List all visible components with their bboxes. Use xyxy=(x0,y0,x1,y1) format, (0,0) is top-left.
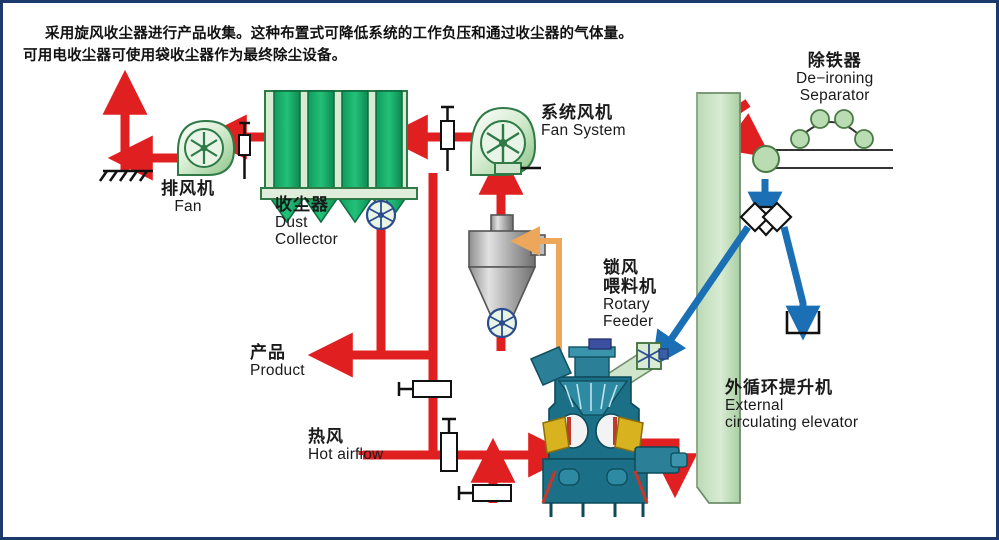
vertical-roller-mill[interactable] xyxy=(531,339,687,517)
label-rotary-feeder-cn1: 锁风 xyxy=(603,258,657,277)
system-fan-inlet-damper xyxy=(441,121,454,149)
label-product: 产品 Product xyxy=(250,343,305,379)
label-de-ironing-separator: 除铁器 De−ironing Separator xyxy=(796,51,873,105)
label-de-ironing-cn: 除铁器 xyxy=(796,51,873,70)
damper-hot-air-vertical[interactable] xyxy=(441,419,457,471)
valve-to-bin-line xyxy=(784,227,803,321)
label-product-cn: 产品 xyxy=(250,343,305,362)
label-elevator-en1: External xyxy=(725,397,858,414)
damper-bottom-inlet[interactable] xyxy=(459,485,511,501)
label-product-en: Product xyxy=(250,362,305,379)
label-dust-collector-cn: 收尘器 xyxy=(275,195,338,214)
label-fan-system-en: Fan System xyxy=(541,122,626,139)
label-fan-system-cn: 系统风机 xyxy=(541,103,626,122)
label-rotary-feeder-cn2: 喂料机 xyxy=(603,277,657,296)
label-hot-airflow-cn: 热风 xyxy=(308,427,383,446)
exhaust-stack-duct xyxy=(100,95,178,181)
label-rotary-feeder-en2: Feeder xyxy=(603,313,657,330)
label-elevator-cn: 外循环提升机 xyxy=(725,378,858,397)
label-hot-airflow: 热风 Hot airflow xyxy=(308,427,383,463)
cyclone-rotary-valve[interactable] xyxy=(488,309,516,337)
label-hot-airflow-en: Hot airflow xyxy=(308,446,383,463)
label-fan-system: 系统风机 Fan System xyxy=(541,103,626,139)
label-rotary-feeder: 锁风 喂料机 Rotary Feeder xyxy=(603,258,657,331)
diagram-canvas: 采用旋风收尘器进行产品收集。这种布置式可降低系统的工作负压和通过收尘器的气体量。… xyxy=(0,0,999,540)
conveyor-belt xyxy=(753,146,893,172)
exhaust-fan-damper xyxy=(239,135,250,155)
label-de-ironing-en2: Separator xyxy=(796,87,873,104)
de-ironing-separator[interactable] xyxy=(791,110,873,148)
label-elevator-en2: circulating elevator xyxy=(725,414,858,431)
label-rotary-feeder-en1: Rotary xyxy=(603,296,657,313)
collector-rotary-valve[interactable] xyxy=(367,201,395,229)
label-fan-en: Fan xyxy=(161,198,215,215)
label-dust-collector-en1: Dust xyxy=(275,214,338,231)
label-fan: 排风机 Fan xyxy=(161,179,215,215)
label-dust-collector-en2: Collector xyxy=(275,231,338,248)
exhaust-fan[interactable] xyxy=(178,121,250,179)
damper-product-line[interactable] xyxy=(399,381,451,397)
label-de-ironing-en1: De−ironing xyxy=(796,70,873,87)
product-discharge-duct xyxy=(333,261,381,355)
label-elevator: 外循环提升机 External circulating elevator xyxy=(725,378,858,432)
label-fan-cn: 排风机 xyxy=(161,179,215,198)
label-dust-collector: 收尘器 Dust Collector xyxy=(275,195,338,249)
